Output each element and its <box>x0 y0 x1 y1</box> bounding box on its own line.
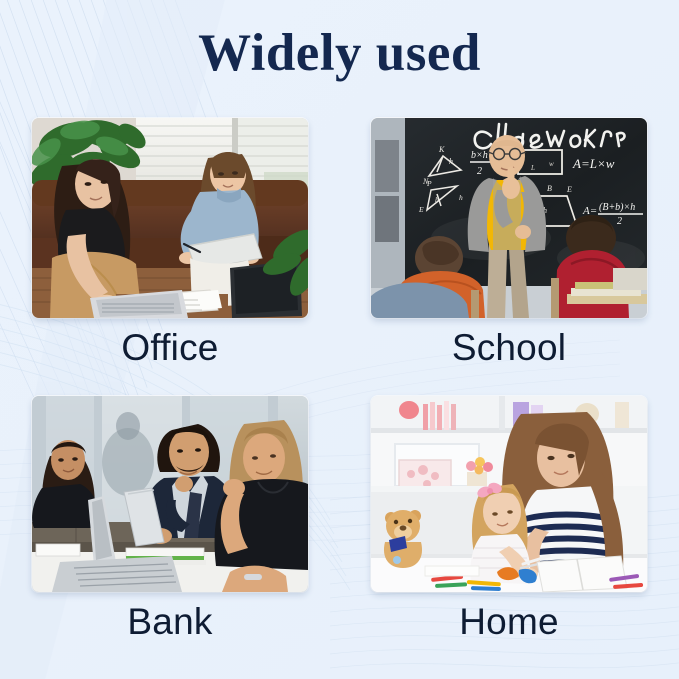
usage-card-grid: KNh b×h 2 Lw A=L×w <box>32 118 647 658</box>
svg-text:E: E <box>566 185 572 194</box>
page-title: Widely used <box>0 24 679 82</box>
card-image-home <box>371 396 647 592</box>
svg-text:L: L <box>530 164 535 172</box>
card-label-home: Home <box>371 592 647 666</box>
svg-text:A=L×w: A=L×w <box>572 156 615 171</box>
card-label-office: Office <box>32 318 308 396</box>
card-label-bank: Bank <box>32 592 308 666</box>
card-label-school: School <box>371 318 647 396</box>
poster-root: Widely used <box>0 0 679 679</box>
svg-text:E: E <box>418 205 424 214</box>
school-photo: KNh b×h 2 Lw A=L×w <box>371 118 647 318</box>
svg-text:P: P <box>426 179 432 188</box>
office-photo <box>32 118 308 318</box>
bank-photo <box>32 396 308 592</box>
svg-text:h: h <box>459 193 463 202</box>
svg-text:K: K <box>438 145 445 154</box>
card-image-bank <box>32 396 308 592</box>
svg-text:(B+b)×h: (B+b)×h <box>599 202 635 213</box>
svg-text:b×h: b×h <box>471 150 488 161</box>
svg-text:w: w <box>549 160 554 168</box>
svg-text:2: 2 <box>477 166 482 177</box>
svg-text:2: 2 <box>617 216 622 227</box>
svg-text:h: h <box>449 157 453 166</box>
card-image-school: KNh b×h 2 Lw A=L×w <box>371 118 647 318</box>
card-image-office <box>32 118 308 318</box>
svg-text:h: h <box>435 195 439 204</box>
svg-text:B: B <box>547 184 552 193</box>
home-photo <box>371 396 647 592</box>
